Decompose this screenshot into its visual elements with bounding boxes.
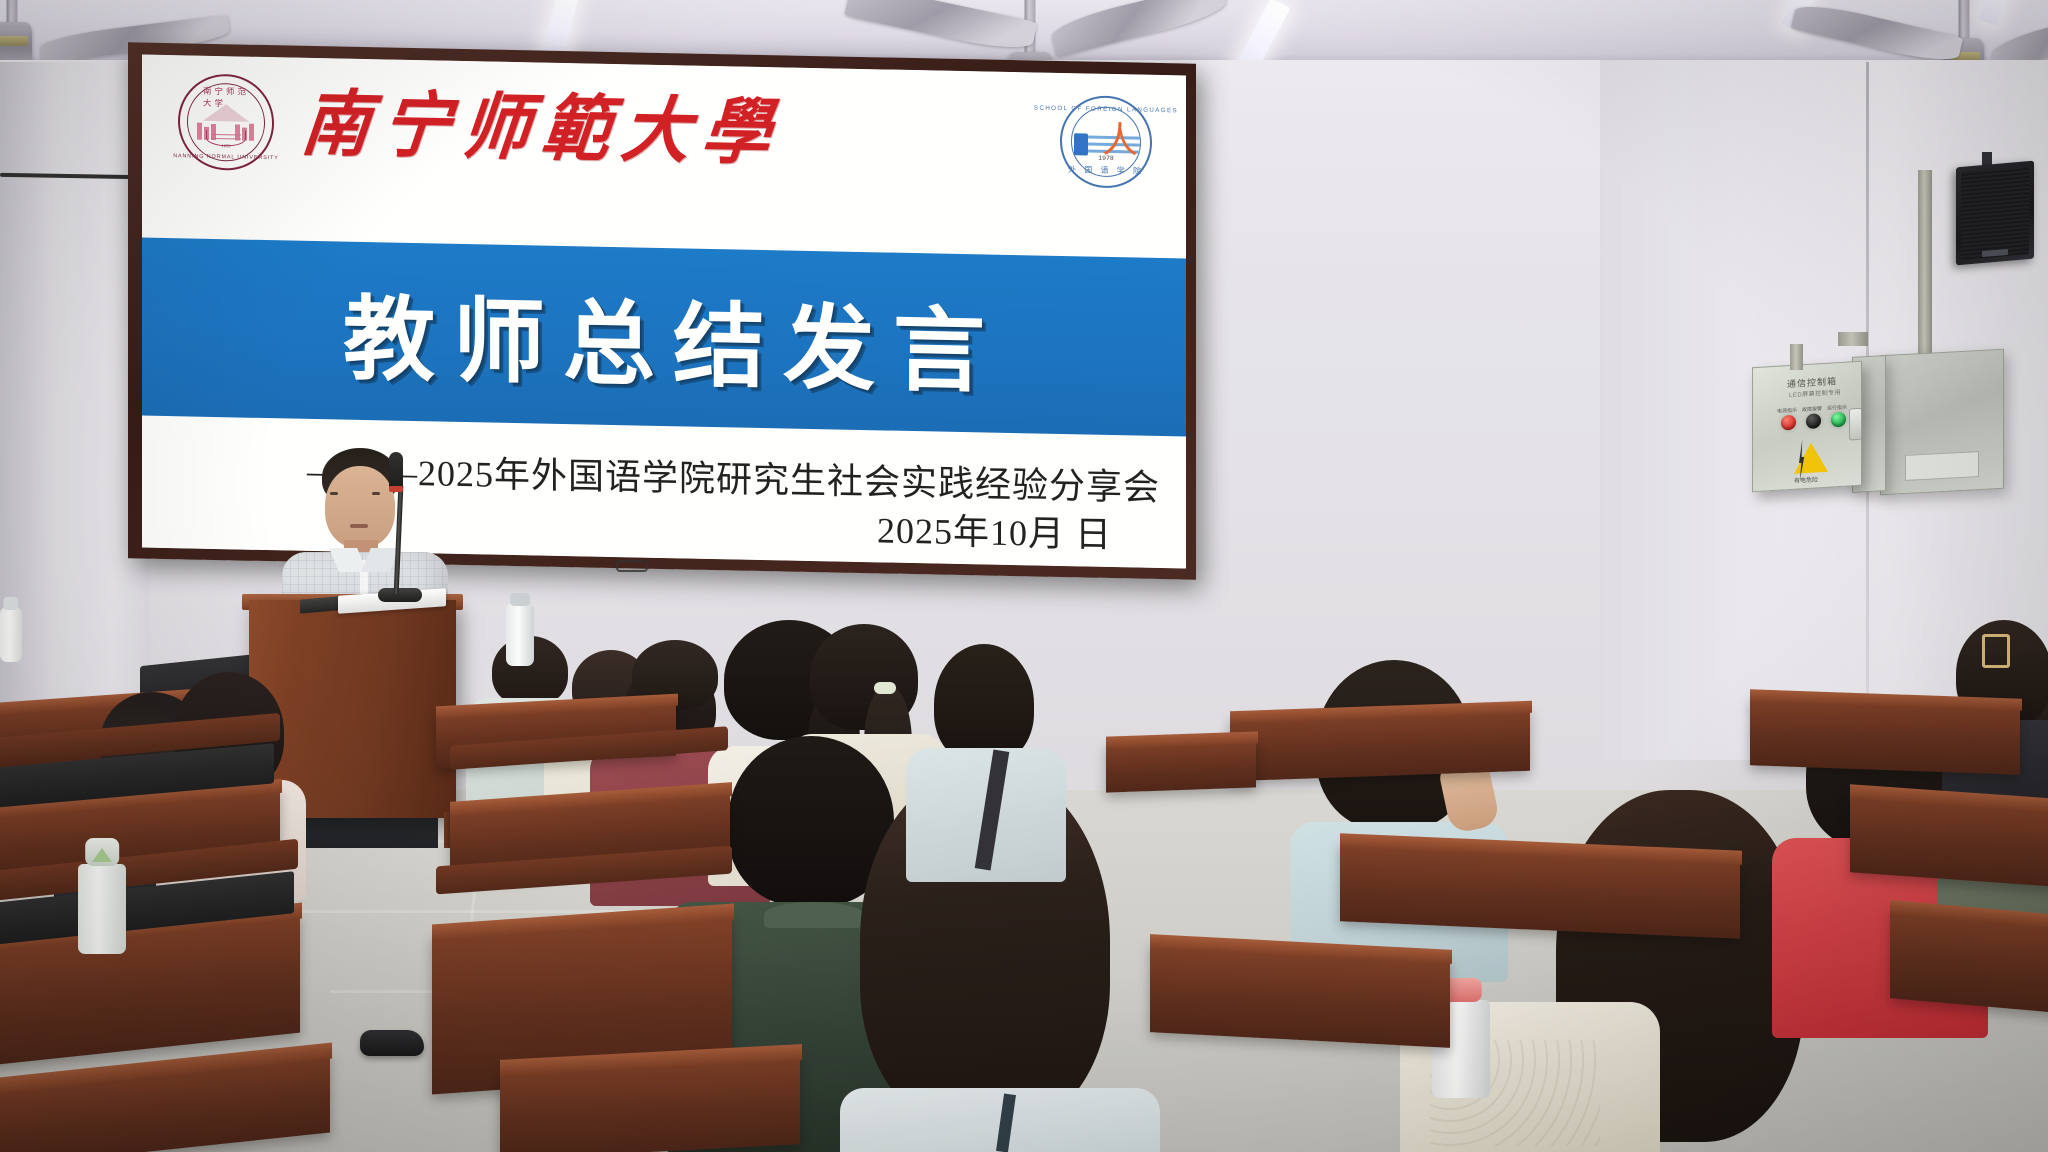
speaker-grille bbox=[1961, 166, 2029, 260]
university-name-heading: 南宁师範大學 bbox=[302, 74, 862, 185]
presenter-shoe-left bbox=[360, 1030, 424, 1056]
lecture-hall-scene: 通信控制箱 LED屏幕控制专用 电源指示 故障报警 运行指示 有电危险 南宁师范… bbox=[0, 0, 2048, 1152]
emblem2-arc-bottom: 外 国 语 学 院 bbox=[1068, 164, 1144, 177]
emblem-arc-bottom: NANNING NORMAL UNIVERSITY bbox=[173, 153, 279, 161]
electrical-cabinet bbox=[1880, 349, 2004, 495]
water-bottle-1[interactable] bbox=[0, 608, 22, 662]
microphone-indicator bbox=[389, 486, 403, 492]
emblem-year: 1953 bbox=[222, 143, 231, 148]
emblem2-arc-top: SCHOOL OF FOREIGN LANGUAGES bbox=[1034, 104, 1178, 114]
nanning-normal-university-emblem-icon: 南宁师范大学 1953 NANNING NORMAL UNIVERSITY bbox=[178, 73, 274, 171]
water-bottle-3[interactable] bbox=[506, 604, 534, 666]
slide-main-title: 教师总结发言 bbox=[325, 264, 1003, 411]
control-box[interactable]: 通信控制箱 LED屏幕控制专用 电源指示 故障报警 运行指示 有电危险 bbox=[1752, 361, 1862, 493]
microphone-base bbox=[378, 588, 422, 602]
slide-title-band: 教师总结发言 bbox=[142, 238, 1186, 437]
conduit-pipe bbox=[1918, 170, 1932, 356]
control-box-subtitle: LED屏幕控制专用 bbox=[1789, 387, 1841, 399]
wall-speaker bbox=[1956, 161, 2034, 266]
eyeglasses-icon bbox=[616, 560, 648, 572]
presenter-head bbox=[325, 466, 395, 548]
audience-member-11 bbox=[912, 644, 1062, 874]
cabinet-strap bbox=[1790, 344, 1803, 370]
status-indicator-black bbox=[1806, 413, 1821, 429]
conduit-pipe-2 bbox=[1838, 332, 1868, 346]
power-indicator-red bbox=[1781, 415, 1796, 431]
hair-tie bbox=[874, 682, 896, 694]
high-voltage-warning-icon bbox=[1794, 442, 1828, 474]
audience-11-hair bbox=[934, 644, 1034, 764]
lamp-caption-black: 故障报警 bbox=[1802, 405, 1822, 413]
warning-label: 有电危险 bbox=[1794, 474, 1818, 484]
control-switch[interactable] bbox=[1849, 408, 1862, 441]
cabinet-nameplate bbox=[1905, 451, 1979, 481]
water-bottle-2[interactable] bbox=[78, 864, 126, 954]
run-indicator-green bbox=[1831, 412, 1846, 428]
university-name-text: 南宁师範大學 bbox=[298, 88, 786, 170]
hair-clip-icon bbox=[1982, 634, 2010, 668]
lamp-caption-red: 电源指示 bbox=[1777, 407, 1797, 415]
school-of-foreign-languages-emblem-icon: SCHOOL OF FOREIGN LANGUAGES 人 1978 外 国 语… bbox=[1060, 95, 1152, 189]
emblem2-year: 1978 bbox=[1098, 155, 1114, 162]
lamp-caption-green: 运行指示 bbox=[1827, 404, 1847, 412]
